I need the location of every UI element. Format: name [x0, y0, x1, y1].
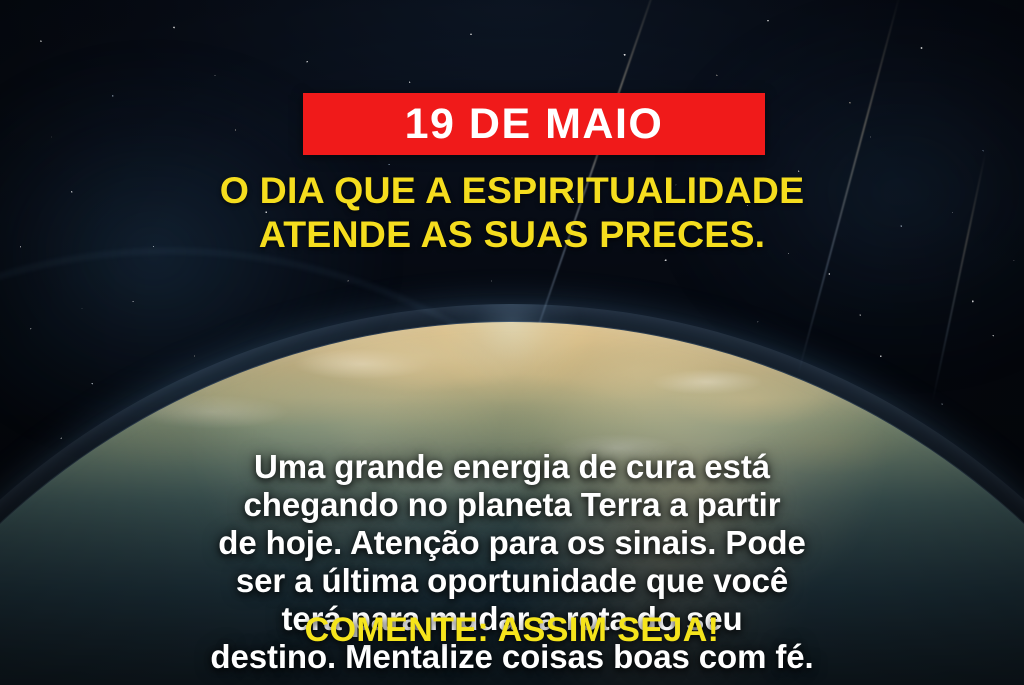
- call-to-action-label: COMENTE: ASSIM SEJA!: [305, 611, 720, 649]
- headline-line-1: O DIA QUE A ESPIRITUALIDADE: [220, 169, 805, 211]
- date-banner: 19 DE MAIO: [303, 93, 765, 155]
- call-to-action: COMENTE: ASSIM SEJA!: [0, 612, 1024, 649]
- body-line: de hoje. Atenção para os sinais. Pode: [46, 524, 978, 562]
- body-line: chegando no planeta Terra a partir: [46, 486, 978, 524]
- body-line: Uma grande energia de cura está: [46, 448, 978, 486]
- headline: O DIA QUE A ESPIRITUALIDADE ATENDE AS SU…: [0, 168, 1024, 256]
- headline-line-2: ATENDE AS SUAS PRECES.: [259, 213, 766, 255]
- date-banner-label: 19 DE MAIO: [405, 103, 664, 146]
- poster-canvas: 19 DE MAIO O DIA QUE A ESPIRITUALIDADE A…: [0, 0, 1024, 685]
- poster-content: 19 DE MAIO O DIA QUE A ESPIRITUALIDADE A…: [0, 0, 1024, 685]
- body-line: ser a última oportunidade que você: [46, 562, 978, 600]
